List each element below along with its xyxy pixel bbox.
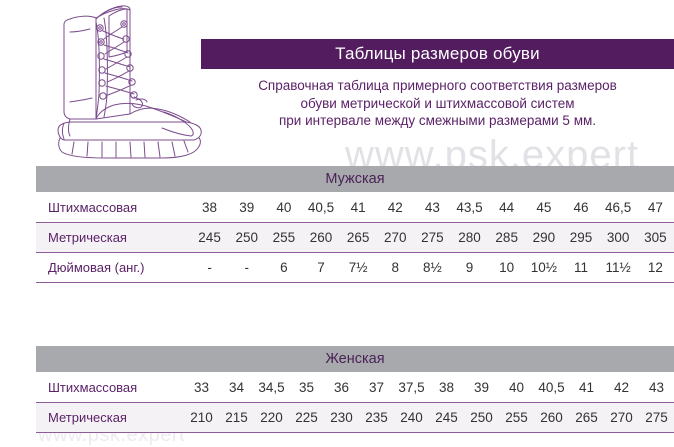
cell: 260 xyxy=(302,223,339,253)
size-table-women: Женская Штихмассовая 33 34 34,5 35 36 37… xyxy=(36,346,674,433)
cell: 9 xyxy=(451,253,488,283)
cell: 7 xyxy=(302,253,339,283)
cell: 245 xyxy=(429,403,464,433)
row-label-dyuymovaya: Дюймовая (анг.) xyxy=(36,253,191,283)
cell: 34,5 xyxy=(254,373,289,403)
cell: 7½ xyxy=(340,253,377,283)
cell: 46,5 xyxy=(600,193,637,223)
page-subtitle: Справочная таблица примерного соответств… xyxy=(201,69,674,130)
row-label-shtikhmassovaya: Штихмассовая xyxy=(36,193,191,223)
cell: 275 xyxy=(414,223,451,253)
cell: 39 xyxy=(464,373,499,403)
cell: 280 xyxy=(451,223,488,253)
cell: 39 xyxy=(228,193,265,223)
cell: 40,5 xyxy=(534,373,569,403)
cell: 285 xyxy=(488,223,525,253)
cell: 235 xyxy=(359,403,394,433)
table-row: Дюймовая (анг.) - - 6 7 7½ 8 8½ 9 10 10½… xyxy=(36,253,674,283)
cell: 250 xyxy=(464,403,499,433)
subtitle-line-2: обуви метрической и штихмассовой систем xyxy=(201,95,674,113)
cell: 6 xyxy=(265,253,302,283)
row-label-metricheskaya: Метрическая xyxy=(36,403,184,433)
cell: 41 xyxy=(340,193,377,223)
cell: 33 xyxy=(184,373,219,403)
cell: 41 xyxy=(569,373,604,403)
table-body-women: Штихмассовая 33 34 34,5 35 36 37 37,5 38… xyxy=(36,373,674,433)
cell: 255 xyxy=(499,403,534,433)
cell: - xyxy=(191,253,228,283)
cell: 11 xyxy=(562,253,599,283)
cell: 11½ xyxy=(600,253,637,283)
cell: 43 xyxy=(639,373,674,403)
cell: 300 xyxy=(600,223,637,253)
section-header-men: Мужская xyxy=(36,166,674,193)
table-row: Метрическая 245 250 255 260 265 270 275 … xyxy=(36,223,674,253)
cell: 305 xyxy=(637,223,674,253)
cell: 10 xyxy=(488,253,525,283)
cell: 270 xyxy=(604,403,639,433)
cell: 245 xyxy=(191,223,228,253)
cell: 8½ xyxy=(414,253,451,283)
cell: 42 xyxy=(377,193,414,223)
row-label-metricheskaya: Метрическая xyxy=(36,223,191,253)
cell: 46 xyxy=(562,193,599,223)
cell: 36 xyxy=(324,373,359,403)
cell: 295 xyxy=(562,223,599,253)
table-row: Штихмассовая 33 34 34,5 35 36 37 37,5 38… xyxy=(36,373,674,403)
cell: 8 xyxy=(377,253,414,283)
cell: 47 xyxy=(637,193,674,223)
cell: 250 xyxy=(228,223,265,253)
subtitle-line-1: Справочная таблица примерного соответств… xyxy=(201,77,674,95)
cell: 40 xyxy=(499,373,534,403)
cell: 34 xyxy=(219,373,254,403)
cell: 38 xyxy=(191,193,228,223)
cell: 43 xyxy=(414,193,451,223)
cell: 265 xyxy=(340,223,377,253)
cell: 215 xyxy=(219,403,254,433)
cell: 210 xyxy=(184,403,219,433)
cell: 265 xyxy=(569,403,604,433)
title-block: Таблицы размеров обуви Справочная таблиц… xyxy=(201,39,674,130)
cell: 270 xyxy=(377,223,414,253)
cell: 45 xyxy=(525,193,562,223)
cell: 37 xyxy=(359,373,394,403)
cell: 43,5 xyxy=(451,193,488,223)
size-table-men: Мужская Штихмассовая 38 39 40 40,5 41 42… xyxy=(36,166,674,283)
cell: 42 xyxy=(604,373,639,403)
cell: 260 xyxy=(534,403,569,433)
cell: 40 xyxy=(265,193,302,223)
cell: 44 xyxy=(488,193,525,223)
cell: 220 xyxy=(254,403,289,433)
cell: 255 xyxy=(265,223,302,253)
section-header-women: Женская xyxy=(36,346,674,373)
cell: 290 xyxy=(525,223,562,253)
table-row: Метрическая 210 215 220 225 230 235 240 … xyxy=(36,403,674,433)
table-body-men: Штихмассовая 38 39 40 40,5 41 42 43 43,5… xyxy=(36,193,674,283)
cell: 38 xyxy=(429,373,464,403)
cell: 35 xyxy=(289,373,324,403)
cell: 225 xyxy=(289,403,324,433)
cell: 240 xyxy=(394,403,429,433)
page-title: Таблицы размеров обуви xyxy=(201,39,674,69)
cell: 40,5 xyxy=(302,193,339,223)
cell: - xyxy=(228,253,265,283)
cell: 275 xyxy=(639,403,674,433)
boot-illustration xyxy=(34,2,216,162)
subtitle-line-3: при интервале между смежными размерами 5… xyxy=(201,112,674,130)
row-label-shtikhmassovaya: Штихмассовая xyxy=(36,373,184,403)
cell: 230 xyxy=(324,403,359,433)
cell: 12 xyxy=(637,253,674,283)
table-row: Штихмассовая 38 39 40 40,5 41 42 43 43,5… xyxy=(36,193,674,223)
cell: 10½ xyxy=(525,253,562,283)
cell: 37,5 xyxy=(394,373,429,403)
